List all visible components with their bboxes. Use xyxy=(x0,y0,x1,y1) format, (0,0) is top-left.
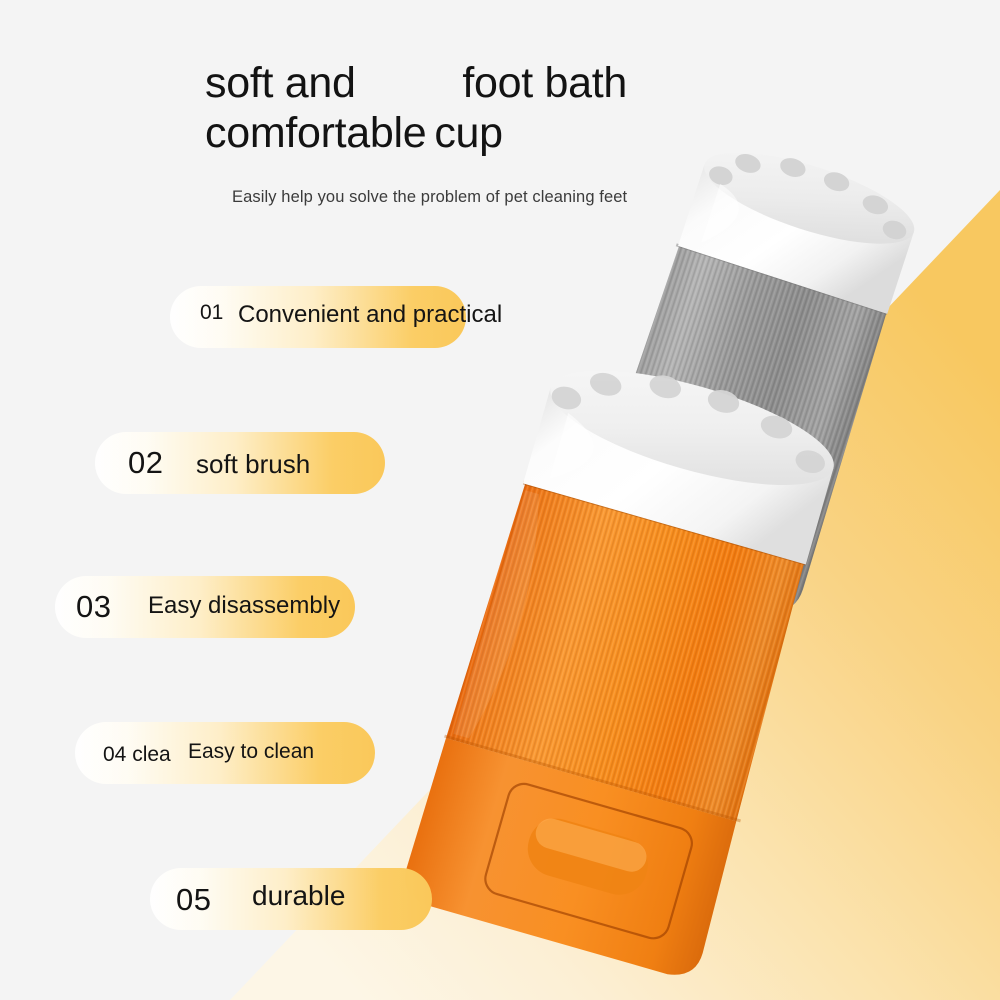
feature-label-04: Easy to clean xyxy=(188,740,314,764)
feature-label-03: Easy disassembly xyxy=(148,592,340,620)
headline: soft and comfortable foot bath cup xyxy=(205,58,627,158)
headline-column-right: foot bath cup xyxy=(434,58,627,158)
subtitle: Easily help you solve the problem of pet… xyxy=(232,188,627,207)
feature-label-01: Convenient and practical xyxy=(238,301,502,329)
feature-label-05: durable xyxy=(252,880,345,912)
product-promo-banner: soft and comfortable foot bath cup Easil… xyxy=(0,0,1000,1000)
headline-line-3: foot bath xyxy=(434,58,627,108)
feature-number-05: 05 xyxy=(176,882,211,918)
headline-line-1: soft and xyxy=(205,58,426,108)
feature-number-04: 04 clea xyxy=(103,743,171,767)
feature-number-01: 01 xyxy=(200,301,223,325)
headline-line-4: cup xyxy=(434,108,627,158)
headline-line-2: comfortable xyxy=(205,108,426,158)
feature-number-02: 02 xyxy=(128,445,163,481)
headline-column-left: soft and comfortable xyxy=(205,58,426,158)
feature-number-03: 03 xyxy=(76,589,111,625)
feature-label-02: soft brush xyxy=(196,449,310,480)
